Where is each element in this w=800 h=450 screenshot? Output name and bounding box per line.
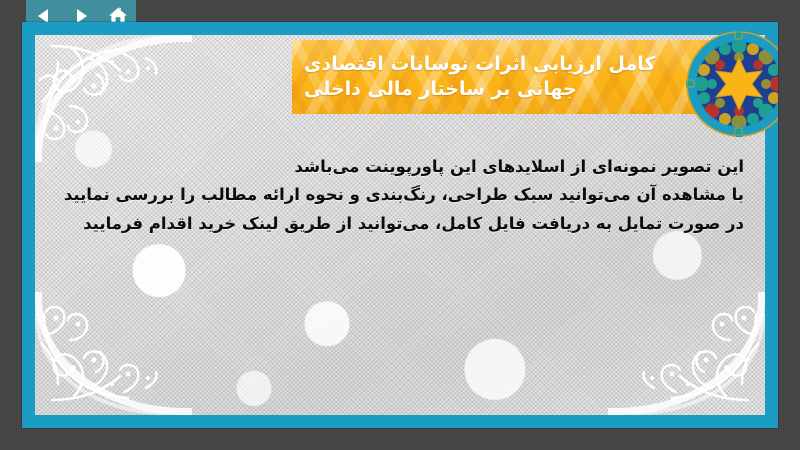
slide: کامل ارزیابی اثرات نوسانات اقتصادی جهانی…	[22, 22, 778, 428]
slide-body-text: این تصویر نمونه‌ای از اسلایدهای این پاور…	[62, 153, 744, 238]
persian-medallion-icon	[685, 30, 778, 138]
slide-title-band: کامل ارزیابی اثرات نوسانات اقتصادی جهانی…	[292, 40, 734, 114]
slide-title-line-1: کامل ارزیابی اثرات نوسانات اقتصادی	[304, 52, 655, 77]
slide-title: کامل ارزیابی اثرات نوسانات اقتصادی جهانی…	[292, 40, 734, 114]
slide-viewer: کامل ارزیابی اثرات نوسانات اقتصادی جهانی…	[0, 0, 800, 450]
slide-title-line-2: جهانی بر ساختار مالی داخلی	[304, 77, 577, 102]
body-line-2: با مشاهده آن می‌توانید سبک طراحی، رنگ‌بن…	[62, 181, 744, 209]
body-line-1: این تصویر نمونه‌ای از اسلایدهای این پاور…	[62, 153, 744, 181]
body-line-3: در صورت تمایل به دریافت فایل کامل، می‌تو…	[62, 210, 744, 238]
